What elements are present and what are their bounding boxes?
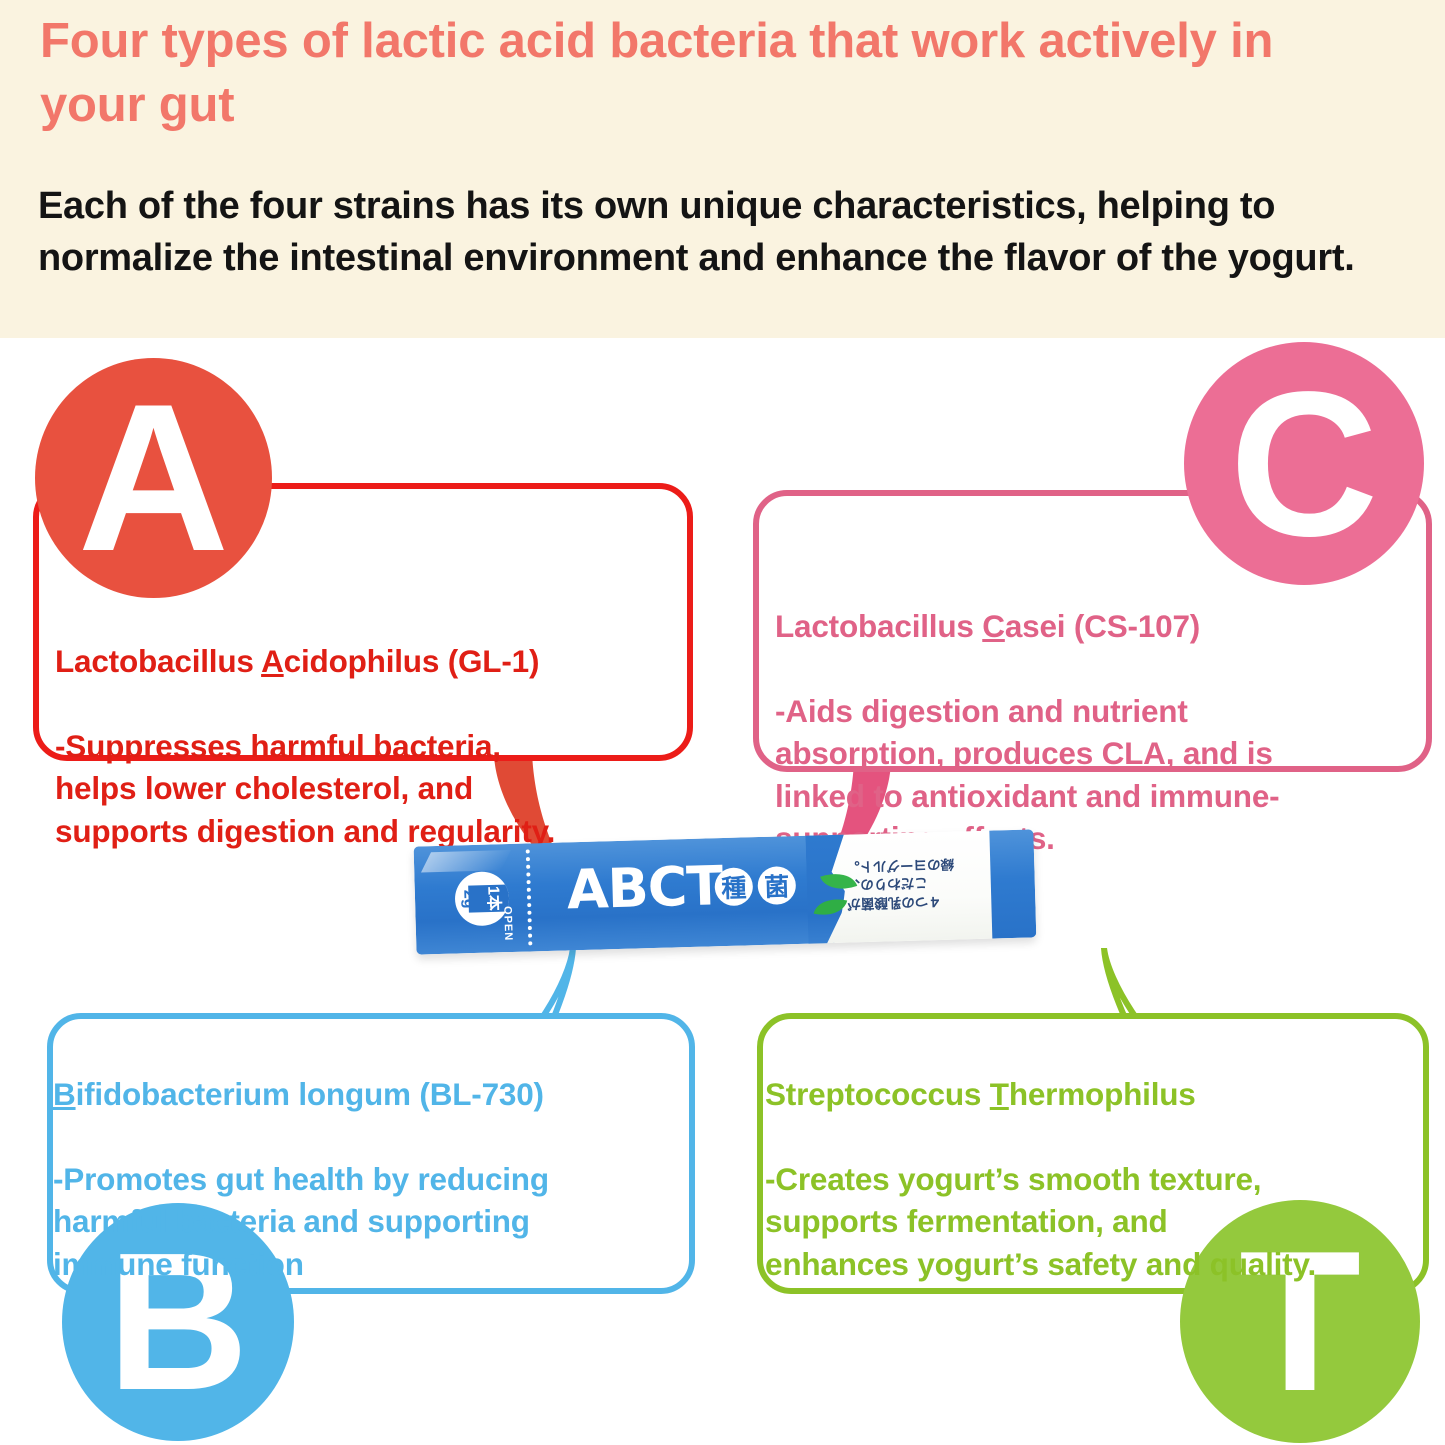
strain-name-c: Lactobacillus Casei (CS-107) bbox=[775, 605, 1430, 647]
strain-name-initial-b: B bbox=[53, 1076, 76, 1112]
strain-name-b: Bifidobacterium longum (BL-730) bbox=[53, 1073, 693, 1115]
page-subtitle: Each of the four strains has its own uni… bbox=[38, 180, 1438, 285]
strain-description-b: -Promotes gut health by reducing harmful… bbox=[53, 1158, 693, 1285]
strain-name-prefix-t: Streptococcus bbox=[765, 1076, 990, 1112]
strain-name-prefix-a: Lactobacillus bbox=[55, 643, 261, 679]
strain-name-suffix-c: asei (CS-107) bbox=[1005, 608, 1200, 644]
strain-letter-a: A bbox=[78, 373, 230, 583]
strain-letter-c: C bbox=[1230, 361, 1379, 567]
strain-name-a: Lactobacillus Acidophilus (GL-1) bbox=[55, 640, 685, 682]
strain-name-suffix-b: ifidobacterium longum (BL-730) bbox=[76, 1076, 544, 1112]
strain-name-suffix-a: cidophilus (GL-1) bbox=[284, 643, 540, 679]
strain-name-t: Streptococcus Thermophilus bbox=[765, 1073, 1430, 1115]
strain-text-b: Bifidobacterium longum (BL-730) -Promote… bbox=[53, 1031, 693, 1328]
sachet-kanji-1: 種 bbox=[714, 867, 753, 906]
strain-name-initial-t: T bbox=[990, 1076, 1009, 1112]
strain-description-t: -Creates yogurt’s smooth texture, suppor… bbox=[765, 1158, 1430, 1285]
sachet-japanese-text: ４つの乳酸菌が こだわりの、 緑のヨーグルト。 bbox=[846, 853, 988, 913]
sachet-highlight bbox=[421, 850, 511, 873]
sachet-open-label: OPEN bbox=[501, 906, 514, 942]
sachet-body: 2g 1本 OPEN ABCT 種 菌 ４つの乳酸菌が こだわりの、 緑のヨーグ… bbox=[414, 829, 1037, 954]
strain-name-initial-a: A bbox=[261, 643, 284, 679]
strain-name-suffix-t: hermophilus bbox=[1009, 1076, 1196, 1112]
sachet-kanji-2: 菌 bbox=[757, 866, 796, 905]
infographic-canvas: Four types of lactic acid bacteria that … bbox=[0, 0, 1445, 1445]
strain-text-t: Streptococcus Thermophilus -Creates yogu… bbox=[765, 1031, 1430, 1328]
sachet-kanji-group: 種 菌 bbox=[714, 866, 796, 906]
sachet-end-cap bbox=[989, 829, 1036, 938]
strain-badge-c: C bbox=[1184, 342, 1424, 585]
strain-name-prefix-c: Lactobacillus bbox=[775, 608, 982, 644]
product-sachet: 2g 1本 OPEN ABCT 種 菌 ４つの乳酸菌が こだわりの、 緑のヨーグ… bbox=[413, 815, 1037, 972]
page-title: Four types of lactic acid bacteria that … bbox=[40, 10, 1370, 137]
strain-name-initial-c: C bbox=[982, 608, 1005, 644]
sachet-brand-text: ABCT bbox=[566, 859, 723, 917]
strain-badge-a: A bbox=[35, 358, 272, 598]
